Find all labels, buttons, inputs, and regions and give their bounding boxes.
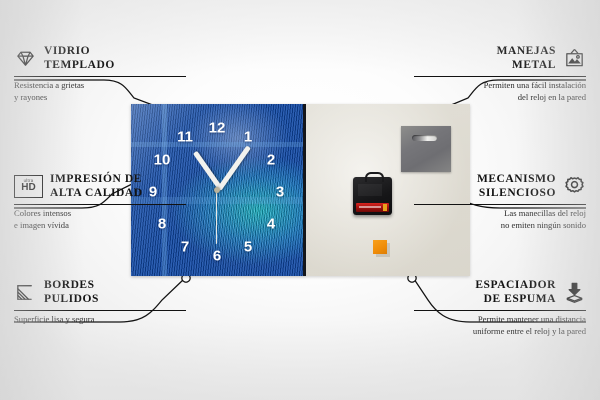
callout-subtitle: Resistencia a grietas y rayones [14,80,186,103]
clock-second-hand [216,189,217,244]
battery [356,203,389,212]
callout-title: ESPACIADOR DE ESPUMA [475,278,556,306]
clock-numeral-3: 3 [276,185,284,200]
callout-rule [14,310,186,311]
clock-numeral-1: 1 [244,130,252,145]
callout-title: MECANISMO SILENCIOSO [477,172,556,200]
callout-rule [414,204,586,205]
framed-picture-icon [563,47,586,70]
callout-tempered-glass: VIDRIO TEMPLADO Resistencia a grietas y … [14,44,186,103]
infographic-canvas: 12 1 2 3 4 5 6 7 8 9 10 11 [0,0,600,400]
ultra-hd-icon: ultra HD [14,175,43,198]
clock-numeral-10: 10 [154,153,171,168]
callout-rule [414,76,586,77]
clock-numeral-4: 4 [267,217,275,232]
callout-subtitle: Superficie lisa y segura [14,314,186,325]
callout-title: BORDES PULIDOS [44,278,99,306]
callout-hd-print: ultra HD IMPRESIÓN DE ALTA CALIDAD Color… [14,172,186,231]
callout-rule [14,76,186,77]
clock-center-hub [214,187,220,193]
callout-polished-edges: BORDES PULIDOS Superficie lisa y segura [14,278,186,326]
callout-subtitle: Colores intensos e imagen vívida [14,208,186,231]
polished-edges-icon [14,281,37,304]
arrow-down-pad-icon [563,281,586,304]
clock-numeral-7: 7 [181,240,189,255]
hanger-slot [412,135,437,141]
callout-subtitle: Las manecillas del reloj no emiten ningú… [414,208,586,231]
clock-numeral-6: 6 [213,249,221,264]
callout-title: MANEJAS METAL [497,44,556,72]
callout-foam-spacer: ESPACIADOR DE ESPUMA Permite mantener un… [414,278,586,337]
movement-hook [365,172,384,182]
clock-numeral-12: 12 [209,121,226,136]
clock-numeral-11: 11 [177,130,193,145]
foam-spacer-pad [373,240,387,254]
callout-subtitle: Permite mantener una distancia uniforme … [414,314,586,337]
movement-detail [358,184,382,196]
quartz-movement [353,177,392,215]
callout-subtitle: Permiten una fácil instalación del reloj… [414,80,586,103]
ultra-hd-icon-main: HD [21,183,35,193]
metal-hanger-plate [401,126,451,172]
callout-rule [414,310,586,311]
gear-icon [563,175,586,198]
callout-metal-hangers: MANEJAS METAL Permiten una fácil instala… [414,44,586,103]
callout-silent-mechanism: MECANISMO SILENCIOSO Las manecillas del … [414,172,586,231]
callout-rule [14,204,186,205]
callout-title: IMPRESIÓN DE ALTA CALIDAD [50,172,143,200]
battery-label [359,206,381,208]
diamond-icon [14,47,37,70]
battery-terminal [383,204,387,211]
clock-numeral-2: 2 [267,153,275,168]
callout-title: VIDRIO TEMPLADO [44,44,115,72]
clock-numeral-5: 5 [244,240,252,255]
